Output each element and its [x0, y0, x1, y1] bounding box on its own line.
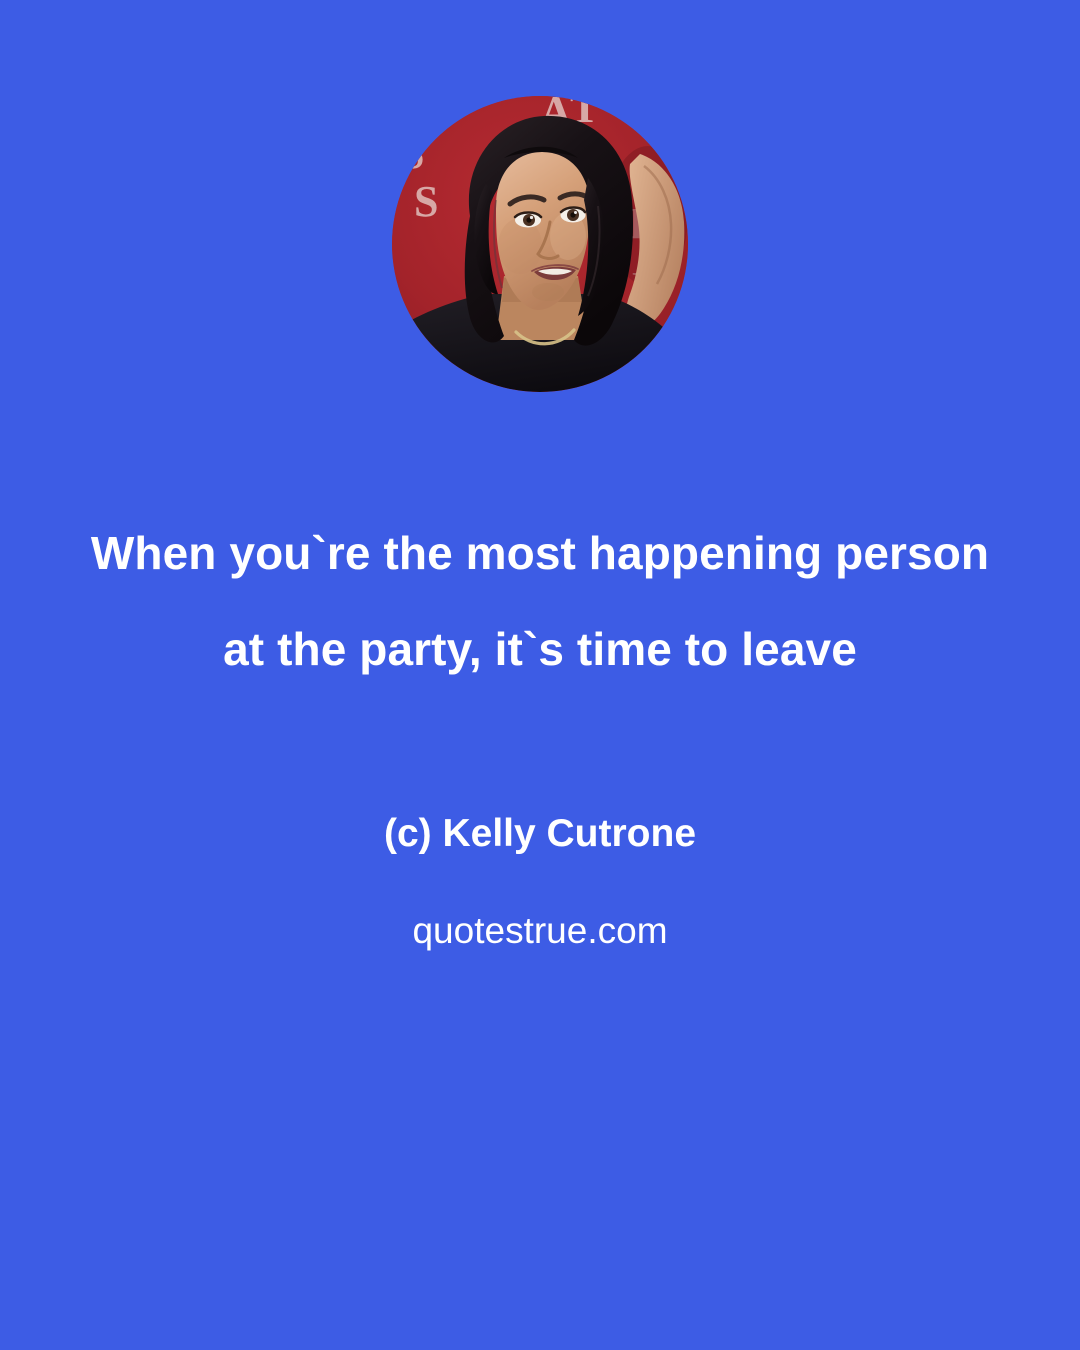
website-label: quotestrue.com: [0, 903, 1080, 959]
author-portrait: S S A T I L: [392, 96, 688, 392]
svg-text:S: S: [400, 129, 424, 178]
quote-line-2: at the party, it`s time to leave: [0, 601, 1080, 697]
quote-card: S S A T I L: [0, 0, 1080, 1350]
quote-text: When you`re the most happening person at…: [0, 505, 1080, 697]
quote-line-1: When you`re the most happening person: [0, 505, 1080, 601]
svg-text:S: S: [414, 177, 438, 226]
portrait-image: S S A T I L: [392, 96, 688, 392]
author-attribution: (c) Kelly Cutrone: [0, 805, 1080, 863]
